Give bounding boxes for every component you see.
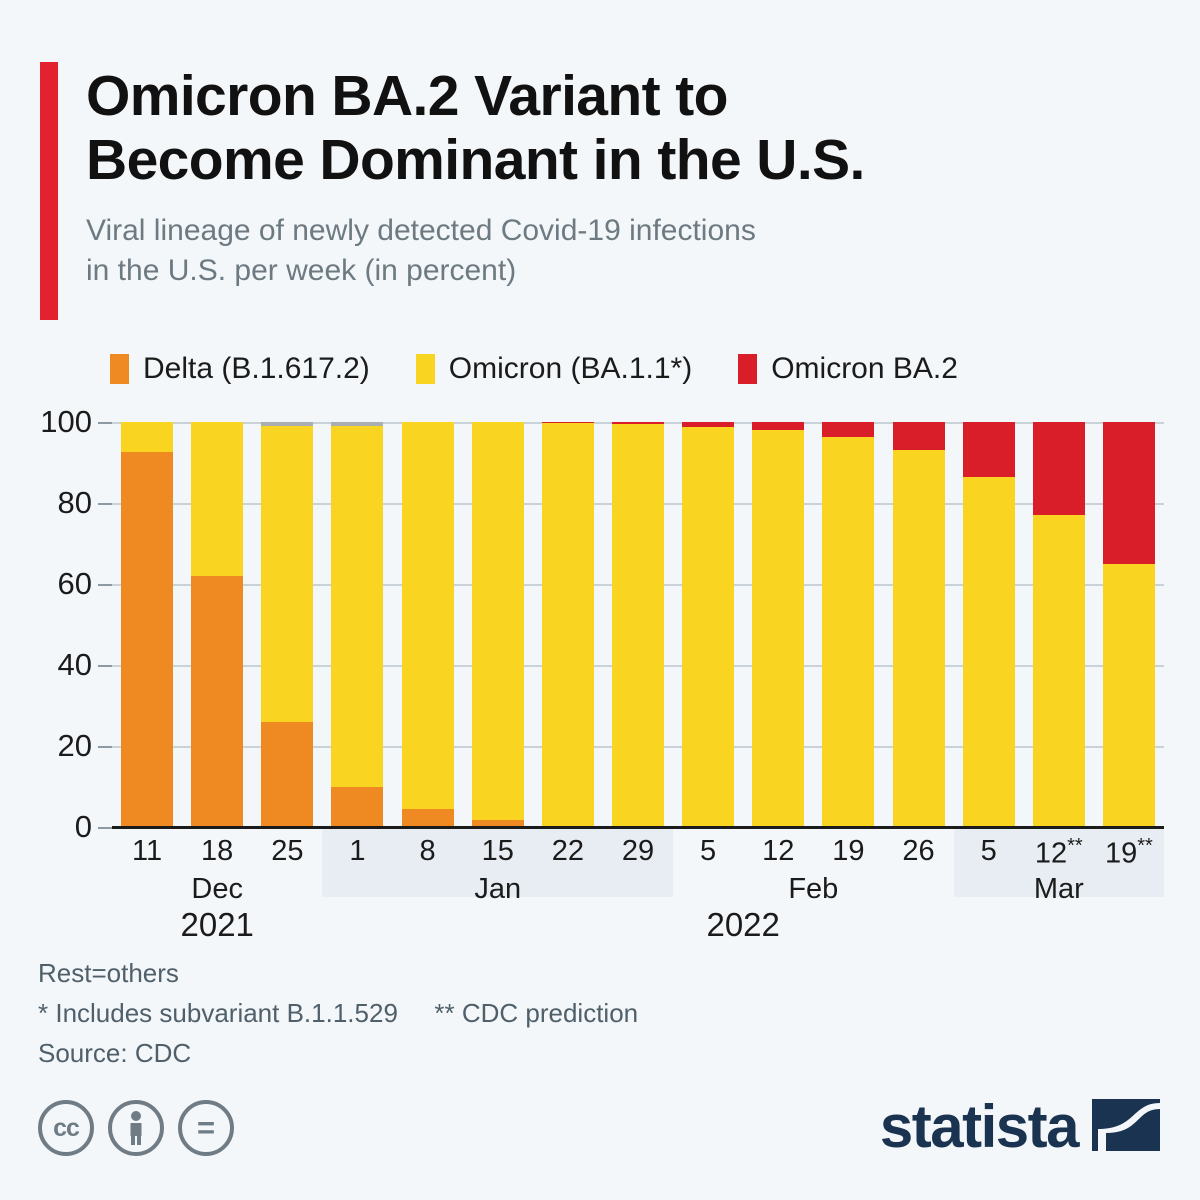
bar-feb-12[interactable] — [752, 422, 804, 827]
header-text: Omicron BA.2 Variant to Become Dominant … — [86, 62, 865, 320]
bar-segment-omicron_ba2 — [682, 422, 734, 427]
year-label-2021: 2021 — [112, 906, 322, 944]
bar-segment-omicron_ba11 — [472, 422, 524, 820]
statista-wave-mark — [1092, 1099, 1160, 1156]
bar-mar-5[interactable] — [963, 422, 1015, 827]
note-double-star: ** CDC prediction — [434, 998, 638, 1028]
chart-legend: Delta (B.1.617.2)Omicron (BA.1.1*)Omicro… — [110, 352, 1004, 386]
y-axis-tick — [98, 665, 112, 667]
x-axis-tick-label: 12** — [1024, 835, 1094, 871]
month-label-feb: Feb — [673, 873, 954, 906]
legend-label-delta: Delta (B.1.617.2) — [143, 352, 370, 386]
bar-jan-22[interactable] — [542, 422, 594, 827]
bar-jan-1[interactable] — [331, 422, 383, 827]
bar-segment-omicron_ba11 — [1103, 564, 1155, 827]
plot-area — [112, 422, 1164, 827]
statista-logo: statista — [880, 1097, 1160, 1157]
x-axis-tick-label: 11 — [112, 835, 182, 868]
x-axis-tick-label: 19** — [1094, 835, 1164, 871]
bar-segment-omicron_ba2 — [752, 422, 804, 430]
note-asterisks: * Includes subvariant B.1.1.529 ** CDC p… — [38, 995, 638, 1032]
bar-segment-omicron_ba11 — [612, 424, 664, 827]
bar-segment-delta — [331, 787, 383, 828]
bar-segment-omicron_ba11 — [121, 422, 173, 452]
y-axis-tick — [98, 503, 112, 505]
x-axis-tick-label: 5 — [673, 835, 743, 868]
bar-segment-omicron_ba2 — [542, 422, 594, 423]
legend-label-omicron_ba11: Omicron (BA.1.1*) — [449, 352, 692, 386]
bar-segment-omicron_ba11 — [402, 422, 454, 809]
y-axis-label: 60 — [22, 566, 92, 602]
y-axis-tick — [98, 746, 112, 748]
bar-segment-omicron_ba11 — [822, 437, 874, 827]
x-axis: 111825181522295121926512**19**DecJanFebM… — [112, 829, 1164, 897]
legend-item-delta[interactable]: Delta (B.1.617.2) — [110, 352, 370, 386]
x-axis-tick-label: 5 — [954, 835, 1024, 868]
bar-dec-18[interactable] — [191, 422, 243, 827]
bar-segment-delta — [191, 576, 243, 827]
y-axis-label: 20 — [22, 728, 92, 764]
year-label-2022: 2022 — [322, 906, 1164, 944]
bar-segment-omicron_ba11 — [752, 430, 804, 827]
bar-segment-others — [331, 422, 383, 426]
x-axis-tick-label: 18 — [182, 835, 252, 868]
y-axis: 020406080100 — [22, 422, 92, 827]
y-axis-tick — [98, 827, 112, 829]
x-axis-tick-label: 1 — [322, 835, 392, 868]
month-label-mar: Mar — [954, 873, 1164, 906]
bar-dec-11[interactable] — [121, 422, 173, 827]
bar-mar-12[interactable] — [1033, 422, 1085, 827]
bar-segment-omicron_ba11 — [893, 450, 945, 827]
bar-segment-omicron_ba11 — [963, 477, 1015, 827]
bar-jan-29[interactable] — [612, 422, 664, 827]
x-axis-tick-label: 8 — [393, 835, 463, 868]
x-axis-tick-label: 15 — [463, 835, 533, 868]
footer-notes: Rest=others * Includes subvariant B.1.1.… — [38, 955, 638, 1075]
header: Omicron BA.2 Variant to Become Dominant … — [40, 62, 1160, 320]
legend-swatch-delta — [110, 354, 129, 384]
page-title: Omicron BA.2 Variant to Become Dominant … — [86, 64, 865, 193]
bar-segment-omicron_ba2 — [1103, 422, 1155, 564]
bar-segment-omicron_ba11 — [682, 427, 734, 827]
y-axis-label: 100 — [22, 404, 92, 440]
note-rest: Rest=others — [38, 955, 638, 992]
y-axis-tick — [98, 422, 112, 424]
cc-by-person-icon — [108, 1100, 164, 1156]
accent-bar — [40, 62, 58, 320]
bar-segment-omicron_ba2 — [822, 422, 874, 437]
y-axis-label: 0 — [22, 809, 92, 845]
cc-nd-equals-icon: = — [178, 1100, 234, 1156]
bar-segment-delta — [261, 722, 313, 827]
x-axis-tick-label: 26 — [884, 835, 954, 868]
bar-segment-omicron_ba2 — [1033, 422, 1085, 515]
statista-wordmark: statista — [880, 1097, 1078, 1157]
bar-segment-omicron_ba2 — [612, 422, 664, 424]
month-label-jan: Jan — [322, 873, 673, 906]
month-label-dec: Dec — [112, 873, 322, 906]
bar-segment-omicron_ba2 — [963, 422, 1015, 477]
bar-segment-omicron_ba11 — [261, 426, 313, 722]
y-axis-tick — [98, 584, 112, 586]
legend-swatch-omicron_ba2 — [738, 354, 757, 384]
x-axis-tick-label: 12 — [743, 835, 813, 868]
bar-segment-omicron_ba11 — [1033, 515, 1085, 827]
cc-icon: cc — [38, 1100, 94, 1156]
x-axis-tick-label: 29 — [603, 835, 673, 868]
legend-item-omicron_ba2[interactable]: Omicron BA.2 — [738, 352, 958, 386]
bar-jan-8[interactable] — [402, 422, 454, 827]
y-axis-label: 40 — [22, 647, 92, 683]
note-single-star: * Includes subvariant B.1.1.529 — [38, 998, 398, 1028]
x-axis-tick-label: 22 — [533, 835, 603, 868]
bar-segment-delta — [121, 452, 173, 827]
bar-segment-delta — [402, 809, 454, 827]
creative-commons-icons: cc = — [38, 1100, 234, 1156]
bar-segment-others — [261, 422, 313, 426]
legend-swatch-omicron_ba11 — [416, 354, 435, 384]
bar-segment-omicron_ba11 — [542, 423, 594, 827]
y-axis-label: 80 — [22, 485, 92, 521]
bar-segment-omicron_ba2 — [893, 422, 945, 450]
page-subtitle: Viral lineage of newly detected Covid-19… — [86, 211, 865, 291]
x-axis-tick-label: 25 — [252, 835, 322, 868]
x-axis-tick-label: 19 — [813, 835, 883, 868]
bar-feb-5[interactable] — [682, 422, 734, 827]
bar-feb-26[interactable] — [893, 422, 945, 827]
bar-jan-15[interactable] — [472, 422, 524, 827]
bar-segment-omicron_ba11 — [331, 426, 383, 786]
bar-dec-25[interactable] — [261, 422, 313, 827]
bar-mar-19[interactable] — [1103, 422, 1155, 827]
note-source: Source: CDC — [38, 1035, 638, 1072]
legend-item-omicron_ba11[interactable]: Omicron (BA.1.1*) — [416, 352, 692, 386]
bar-feb-19[interactable] — [822, 422, 874, 827]
bar-segment-omicron_ba11 — [191, 422, 243, 576]
legend-label-omicron_ba2: Omicron BA.2 — [771, 352, 958, 386]
